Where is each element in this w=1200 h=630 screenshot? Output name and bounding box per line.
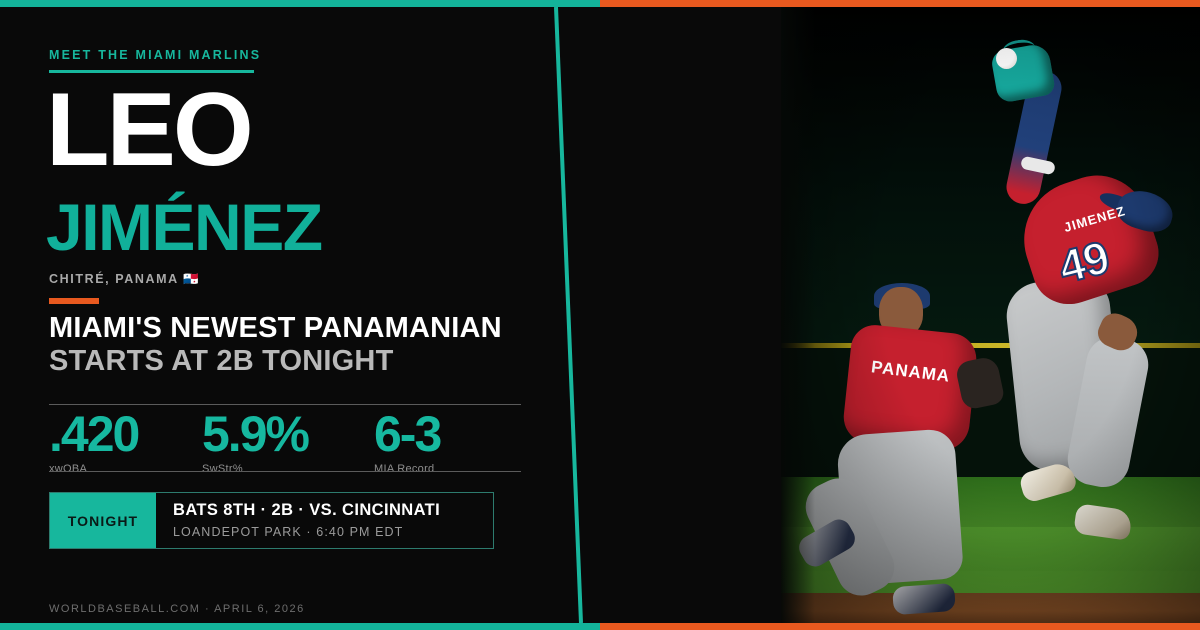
footer-credit: WORLDBASEBALL.COM · APRIL 6, 2026 bbox=[49, 603, 305, 615]
orange-accent-bar bbox=[49, 298, 99, 304]
stat-label: SwStr% bbox=[202, 463, 374, 475]
graphic-canvas: PANAMA JIMENEZ 49 MEET THE MIAMI MARLINS… bbox=[0, 0, 1200, 630]
kicker-label: MEET THE MIAMI MARLINS bbox=[49, 48, 261, 62]
stat-block-record: 6-3 MIA Record bbox=[374, 410, 521, 475]
stat-label: xwOBA bbox=[49, 463, 202, 475]
stat-block-swstr: 5.9% SwStr% bbox=[202, 410, 374, 475]
left-content-panel: MEET THE MIAMI MARLINS LEO JIMÉNEZ CHITR… bbox=[0, 0, 600, 630]
tonight-game-box: TONIGHT BATS 8TH · 2B · VS. CINCINNATI L… bbox=[49, 492, 494, 549]
stat-value: .420 bbox=[49, 410, 202, 459]
stats-rule-bottom bbox=[49, 471, 521, 472]
player-last-name: JIMÉNEZ bbox=[46, 194, 322, 260]
player-origin-text: CHITRÉ, PANAMA bbox=[49, 272, 178, 286]
top-bar-teal-segment bbox=[0, 0, 600, 7]
stat-label: MIA Record bbox=[374, 463, 521, 475]
headline-line-2: STARTS AT 2B TONIGHT bbox=[49, 346, 393, 377]
photo-left-fade bbox=[781, 7, 815, 623]
stats-row: .420 xwOBA 5.9% SwStr% 6-3 MIA Record bbox=[49, 410, 521, 475]
stat-block-xwoba: .420 xwOBA bbox=[49, 410, 202, 475]
game-venue-time-line: LOANDEPOT PARK · 6:40 PM EDT bbox=[173, 525, 493, 539]
player-first-name: LEO bbox=[46, 78, 251, 182]
bottom-bar-orange-segment bbox=[600, 623, 1200, 630]
bottom-bar-teal-segment bbox=[0, 623, 600, 630]
player-action-photo: PANAMA JIMENEZ 49 bbox=[781, 7, 1200, 623]
headline-line-1: MIAMI'S NEWEST PANAMANIAN bbox=[49, 313, 502, 344]
stats-rule-top bbox=[49, 404, 521, 405]
stat-value: 6-3 bbox=[374, 410, 521, 459]
game-info: BATS 8TH · 2B · VS. CINCINNATI LOANDEPOT… bbox=[156, 493, 493, 548]
panama-flag-icon: 🇵🇦 bbox=[183, 272, 200, 286]
game-matchup-line: BATS 8TH · 2B · VS. CINCINNATI bbox=[173, 501, 493, 520]
tonight-tag: TONIGHT bbox=[50, 493, 156, 548]
photo-vignette bbox=[781, 7, 1200, 623]
top-bar-orange-segment bbox=[600, 0, 1200, 7]
stat-value: 5.9% bbox=[202, 410, 374, 459]
bottom-edge-bar bbox=[0, 623, 1200, 630]
top-edge-bar bbox=[0, 0, 1200, 7]
player-origin: CHITRÉ, PANAMA 🇵🇦 bbox=[49, 272, 201, 287]
